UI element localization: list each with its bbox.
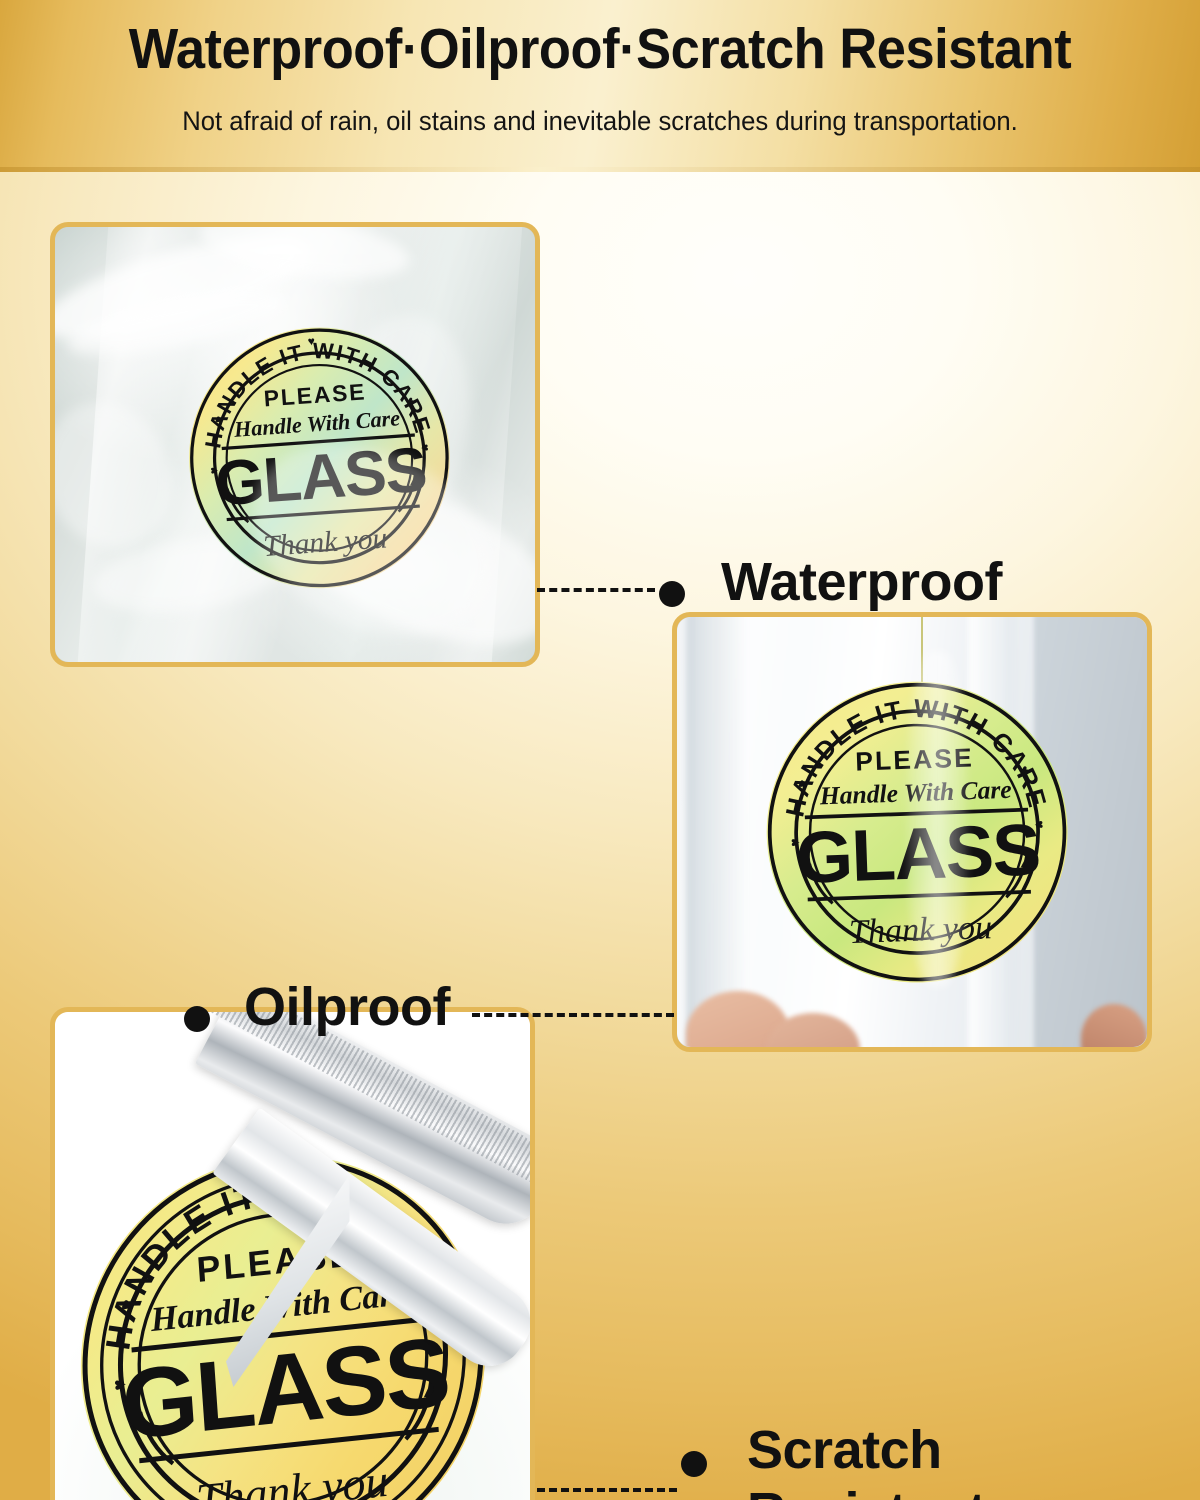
callout-label-oilproof: Oilproof [244, 976, 450, 1038]
photo-oilproof: HANDLE IT WITH CARE ♥ ♥ ♥ ♥ PLEASE Handl… [672, 612, 1152, 1052]
bullet-dot-icon [659, 581, 685, 607]
content-area: HANDLE IT WITH CARE ♥ ♥ ♥ ♥ ♥ PLEASE Han… [0, 172, 1200, 1500]
glass-reflection [907, 651, 968, 986]
jar-edge-highlight [686, 617, 747, 1047]
leader-line-waterproof [537, 588, 655, 592]
callout-oilproof: Oilproof [184, 992, 674, 1038]
callout-label-scratch: Scratch Resistant [747, 1419, 986, 1500]
page-title: Waterproof·Oilproof·Scratch Resistant [48, 14, 1152, 84]
page-subtitle: Not afraid of rain, oil stains and inevi… [30, 103, 1170, 139]
callout-waterproof: Waterproof [537, 567, 1002, 613]
photo-scratch: HANDLE IT WITH CARE ♥ ♥ ♥ PLEASE Handle … [50, 1007, 535, 1500]
bullet-dot-icon [681, 1451, 707, 1477]
bullet-dot-icon [184, 1006, 210, 1032]
header-band: Waterproof·Oilproof·Scratch Resistant No… [0, 0, 1200, 172]
photo-oilproof-scene: HANDLE IT WITH CARE ♥ ♥ ♥ ♥ PLEASE Handl… [677, 617, 1147, 1047]
svg-text:♥: ♥ [307, 334, 315, 348]
photo-scratch-scene: HANDLE IT WITH CARE ♥ ♥ ♥ PLEASE Handle … [55, 1012, 530, 1500]
leader-line-oilproof [472, 1013, 674, 1017]
photo-waterproof: HANDLE IT WITH CARE ♥ ♥ ♥ ♥ ♥ PLEASE Han… [50, 222, 540, 667]
callout-label-waterproof: Waterproof [721, 551, 1002, 613]
photo-waterproof-scene: HANDLE IT WITH CARE ♥ ♥ ♥ ♥ ♥ PLEASE Han… [55, 227, 535, 662]
leader-line-scratch [537, 1488, 677, 1492]
callout-scratch: Scratch Resistant [537, 1437, 986, 1500]
product-infographic: Waterproof·Oilproof·Scratch Resistant No… [0, 0, 1200, 1500]
